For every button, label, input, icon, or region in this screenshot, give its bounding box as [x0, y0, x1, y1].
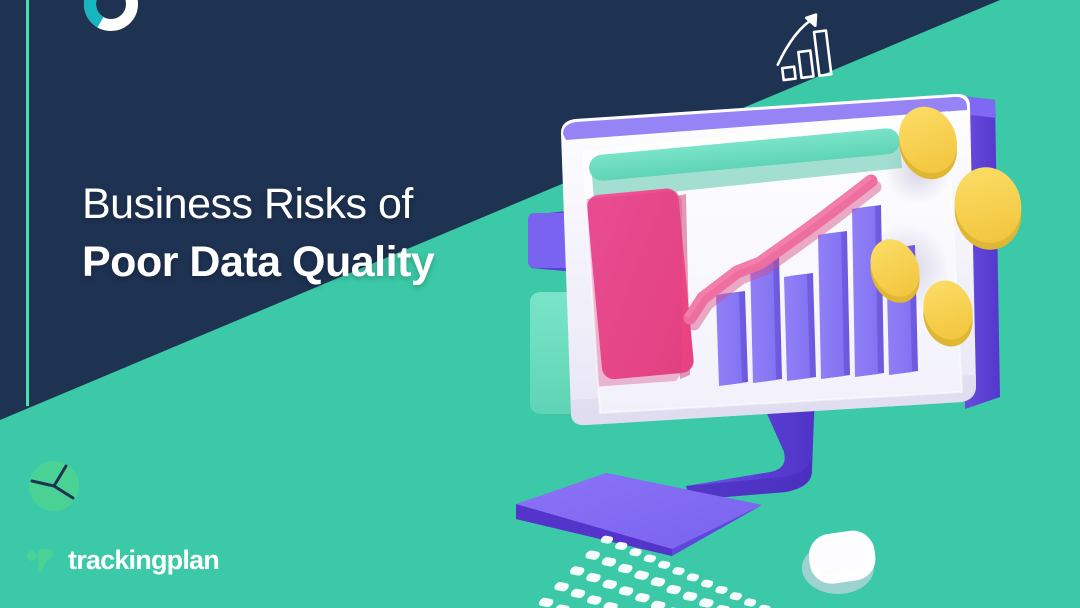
- pie-chart-logo: [26, 458, 82, 514]
- title-line-1: Business Risks of: [82, 178, 512, 230]
- chart-bar: [716, 291, 748, 386]
- brand-lockup: trackingplan: [26, 543, 219, 577]
- mouse: [802, 528, 878, 594]
- chart-bar: [784, 273, 816, 381]
- title-line-2: Poor Data Quality: [82, 236, 512, 288]
- brand-wordmark: trackingplan: [68, 547, 219, 574]
- page-title: Business Risks of Poor Data Quality: [82, 178, 512, 289]
- trackingplan-mark-icon: [26, 547, 56, 573]
- screen-side-panel: [586, 188, 695, 387]
- poster-canvas: Business Risks of Poor Data Quality trac…: [0, 0, 1080, 608]
- chart-bar: [818, 231, 850, 379]
- desk-scene-illustration: [0, 0, 1080, 608]
